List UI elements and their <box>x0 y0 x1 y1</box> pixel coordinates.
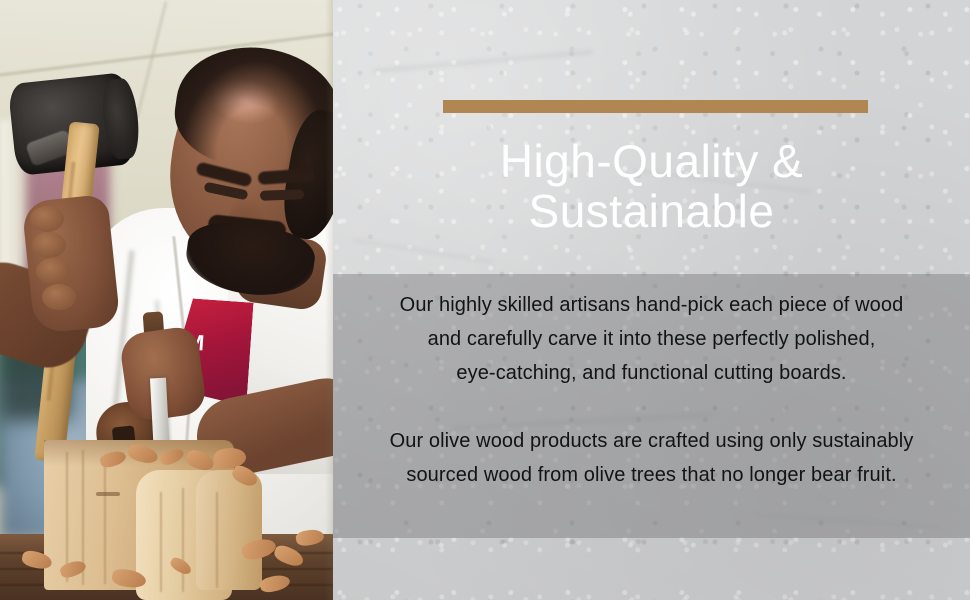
artisan-photo: M <box>0 0 333 600</box>
wood-block-lobe <box>196 470 262 590</box>
content-panel: High-Quality & Sustainable Our highly sk… <box>333 0 970 600</box>
page-title: High-Quality & Sustainable <box>333 136 970 236</box>
paragraph-spacer <box>333 390 970 424</box>
paragraph-2-line-2: sourced wood from olive trees that no lo… <box>333 458 970 492</box>
knuckle <box>36 258 70 284</box>
artisan-eye-right <box>260 189 304 201</box>
paragraph-1-line-1: Our highly skilled artisans hand-pick ea… <box>333 288 970 322</box>
wood-grain <box>182 488 184 592</box>
wood-grain <box>216 492 218 588</box>
gold-divider-rule <box>443 100 868 113</box>
paragraph-1-line-3: eye-catching, and functional cutting boa… <box>333 356 970 390</box>
paragraph-1-line-2: and carefully carve it into these perfec… <box>333 322 970 356</box>
knuckle <box>32 232 66 258</box>
wood-block-notch <box>96 492 120 496</box>
product-feature-banner: M <box>0 0 970 600</box>
wood-grain <box>160 492 162 592</box>
body-copy: Our highly skilled artisans hand-pick ea… <box>333 274 970 538</box>
photo-edge-gradient <box>325 0 333 600</box>
knuckle <box>42 284 76 310</box>
knuckle <box>30 206 64 232</box>
paragraph-2-line-1: Our olive wood products are crafted usin… <box>333 424 970 458</box>
wood-grain <box>104 458 106 584</box>
